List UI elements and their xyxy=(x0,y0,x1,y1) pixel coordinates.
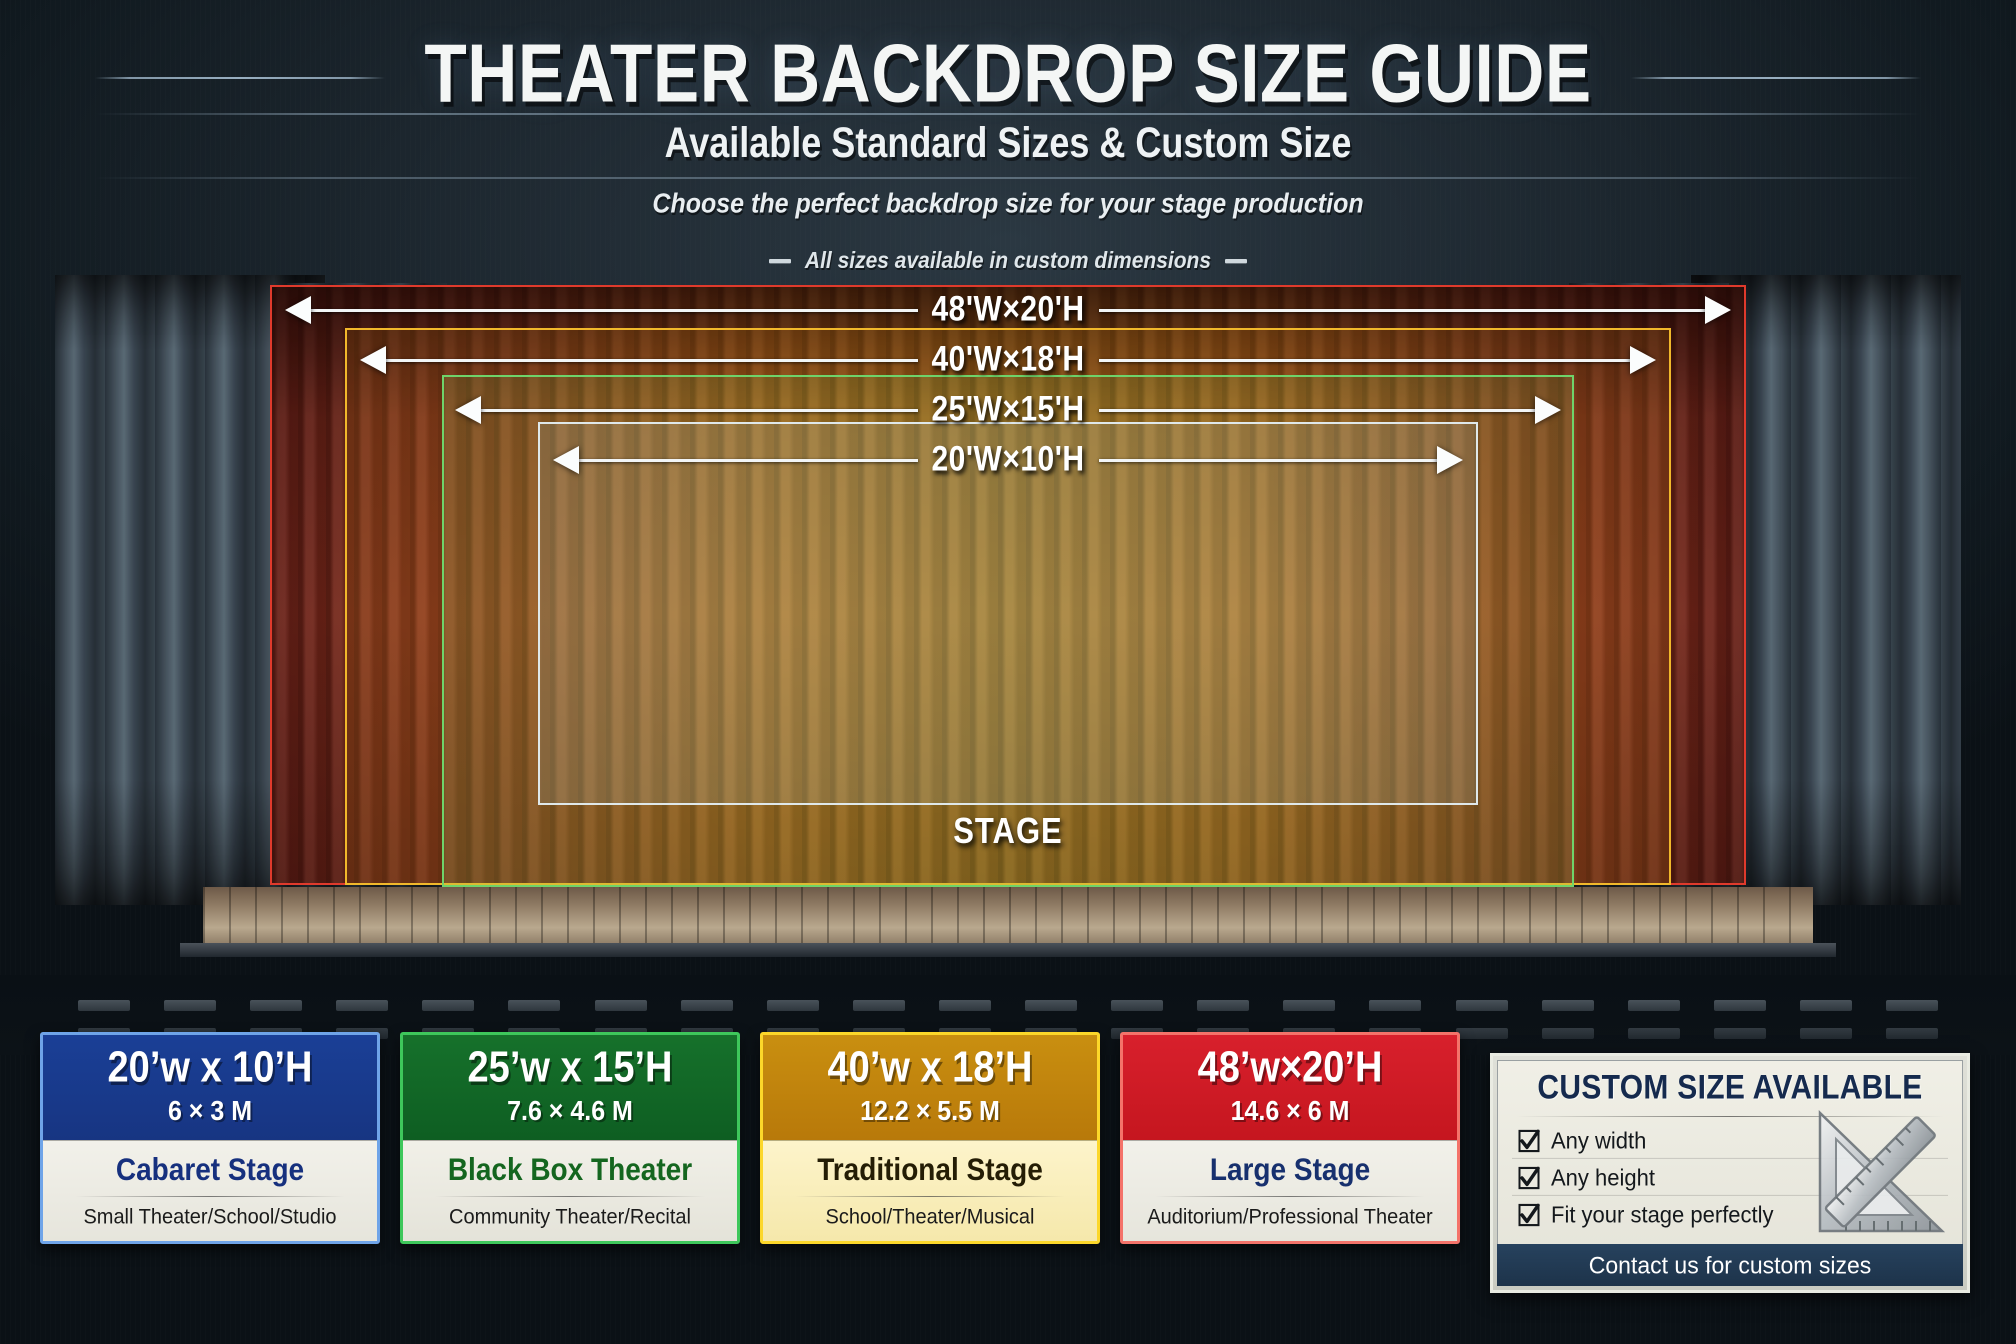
seat xyxy=(1714,1028,1766,1039)
checkbox-checked-icon xyxy=(1518,1129,1540,1152)
dimension-row-25: 25'W×15'H xyxy=(455,393,1561,427)
seat xyxy=(595,1000,647,1011)
dash-right-icon xyxy=(1225,259,1247,263)
card-metric: 6 × 3 M xyxy=(51,1095,369,1127)
dash-left-icon xyxy=(769,259,791,263)
dimension-line xyxy=(1099,459,1438,462)
dimension-row-20: 20'W×10'H xyxy=(553,443,1463,477)
custom-panel-title: CUSTOM SIZE AVAILABLE xyxy=(1512,1068,1948,1107)
seat xyxy=(1542,1000,1594,1011)
arrow-left-icon xyxy=(285,296,311,324)
seat xyxy=(853,1000,905,1011)
card-header: 20’w x 10’H 6 × 3 M xyxy=(43,1035,377,1140)
card-divider xyxy=(1155,1196,1425,1197)
dimension-line xyxy=(1099,359,1631,362)
page-subtitle: Available Standard Sizes & Custom Size xyxy=(0,118,2016,168)
seat xyxy=(336,1000,388,1011)
card-header: 40’w x 18’H 12.2 × 5.5 M xyxy=(763,1035,1097,1140)
dimension-line xyxy=(311,309,918,312)
seat xyxy=(164,1000,216,1011)
infographic-root: THEATER BACKDROP SIZE GUIDE Available St… xyxy=(0,0,2016,1344)
seat xyxy=(1369,1000,1421,1011)
card-body: Black Box Theater Community Theater/Reci… xyxy=(403,1140,737,1241)
card-header: 48’w×20’H 14.6 × 6 M xyxy=(1123,1035,1457,1140)
stage-floor xyxy=(203,887,1813,945)
page-title: THEATER BACKDROP SIZE GUIDE xyxy=(0,26,2016,121)
seat xyxy=(681,1000,733,1011)
page-tagline: Choose the perfect backdrop size for you… xyxy=(0,188,2016,220)
seat xyxy=(1800,1028,1852,1039)
card-dimension: 25’w x 15’H xyxy=(411,1044,729,1093)
card-usecase: Auditorium/Professional Theater xyxy=(1133,1205,1447,1230)
seat xyxy=(1025,1000,1077,1011)
seat xyxy=(1542,1028,1594,1039)
seat xyxy=(1714,1000,1766,1011)
arrow-left-icon xyxy=(360,346,386,374)
card-name: Traditional Stage xyxy=(773,1152,1087,1188)
arrow-right-icon xyxy=(1437,446,1463,474)
arrow-right-icon xyxy=(1705,296,1731,324)
ruler-triangle-icon xyxy=(1806,1107,1954,1243)
checkbox-checked-icon xyxy=(1518,1166,1540,1189)
dimension-label-48: 48'W×20'H xyxy=(918,290,1099,329)
seat xyxy=(1628,1028,1680,1039)
card-metric: 14.6 × 6 M xyxy=(1131,1095,1449,1127)
stage-front-edge xyxy=(180,943,1836,957)
custom-panel-footer[interactable]: Contact us for custom sizes xyxy=(1497,1244,1963,1286)
custom-size-panel[interactable]: CUSTOM SIZE AVAILABLE Any width Any heig… xyxy=(1490,1053,1970,1293)
seat xyxy=(1628,1000,1680,1011)
dimension-line xyxy=(579,459,918,462)
card-name: Black Box Theater xyxy=(413,1152,727,1188)
size-card-traditional[interactable]: 40’w x 18’H 12.2 × 5.5 M Traditional Sta… xyxy=(760,1032,1100,1244)
size-card-cabaret[interactable]: 20’w x 10’H 6 × 3 M Cabaret Stage Small … xyxy=(40,1032,380,1244)
custom-feature-label: Any width xyxy=(1551,1127,1646,1155)
card-usecase: Community Theater/Recital xyxy=(413,1205,727,1230)
arrow-left-icon xyxy=(455,396,481,424)
dimension-line xyxy=(386,359,918,362)
seat xyxy=(508,1000,560,1011)
card-metric: 12.2 × 5.5 M xyxy=(771,1095,1089,1127)
seat xyxy=(1283,1000,1335,1011)
seat xyxy=(1886,1000,1938,1011)
seat xyxy=(1197,1000,1249,1011)
card-name: Cabaret Stage xyxy=(53,1152,367,1188)
custom-feature-label: Fit your stage perfectly xyxy=(1551,1201,1774,1229)
stage-label: STAGE xyxy=(55,810,1961,852)
custom-panel-footer-label: Contact us for custom sizes xyxy=(1589,1251,1872,1280)
card-usecase: School/Theater/Musical xyxy=(773,1205,1087,1230)
card-divider xyxy=(75,1196,345,1197)
proscenium: 48'W×20'H 40'W×18'H 25'W×15'H 20'W×10'H … xyxy=(55,265,1961,965)
dimension-line xyxy=(1099,409,1536,412)
dimension-row-40: 40'W×18'H xyxy=(360,343,1656,377)
seat xyxy=(1800,1000,1852,1011)
seat xyxy=(1886,1028,1938,1039)
size-cards: 20’w x 10’H 6 × 3 M Cabaret Stage Small … xyxy=(40,1032,1460,1244)
dimension-label-20: 20'W×10'H xyxy=(918,440,1099,479)
dimension-label-40: 40'W×18'H xyxy=(918,340,1099,379)
card-divider xyxy=(795,1196,1065,1197)
seat xyxy=(422,1000,474,1011)
card-body: Cabaret Stage Small Theater/School/Studi… xyxy=(43,1140,377,1241)
header-rule-lower xyxy=(95,177,1921,179)
card-name: Large Stage xyxy=(1133,1152,1447,1188)
card-dimension: 48’w×20’H xyxy=(1131,1044,1449,1093)
size-card-black-box[interactable]: 25’w x 15’H 7.6 × 4.6 M Black Box Theate… xyxy=(400,1032,740,1244)
header: THEATER BACKDROP SIZE GUIDE Available St… xyxy=(0,0,2016,290)
size-card-large[interactable]: 48’w×20’H 14.6 × 6 M Large Stage Auditor… xyxy=(1120,1032,1460,1244)
seat xyxy=(250,1000,302,1011)
seat xyxy=(78,1000,130,1011)
card-usecase: Small Theater/School/Studio xyxy=(53,1205,367,1230)
card-body: Large Stage Auditorium/Professional Thea… xyxy=(1123,1140,1457,1241)
seat xyxy=(1111,1000,1163,1011)
seat-row-front xyxy=(78,1000,1938,1011)
dimension-line xyxy=(481,409,918,412)
checkbox-checked-icon xyxy=(1518,1203,1540,1226)
card-body: Traditional Stage School/Theater/Musical xyxy=(763,1140,1097,1241)
custom-feature-label: Any height xyxy=(1551,1164,1655,1192)
card-divider xyxy=(435,1196,705,1197)
card-dimension: 40’w x 18’H xyxy=(771,1044,1089,1093)
dimension-row-48: 48'W×20'H xyxy=(285,293,1731,327)
seat xyxy=(767,1000,819,1011)
card-header: 25’w x 15’H 7.6 × 4.6 M xyxy=(403,1035,737,1140)
seat xyxy=(939,1000,991,1011)
card-metric: 7.6 × 4.6 M xyxy=(411,1095,729,1127)
arrow-right-icon xyxy=(1535,396,1561,424)
seat xyxy=(1456,1028,1508,1039)
dimension-label-25: 25'W×15'H xyxy=(918,390,1099,429)
seat xyxy=(1456,1000,1508,1011)
dimension-line xyxy=(1099,309,1706,312)
arrow-right-icon xyxy=(1630,346,1656,374)
arrow-left-icon xyxy=(553,446,579,474)
card-dimension: 20’w x 10’H xyxy=(51,1044,369,1093)
